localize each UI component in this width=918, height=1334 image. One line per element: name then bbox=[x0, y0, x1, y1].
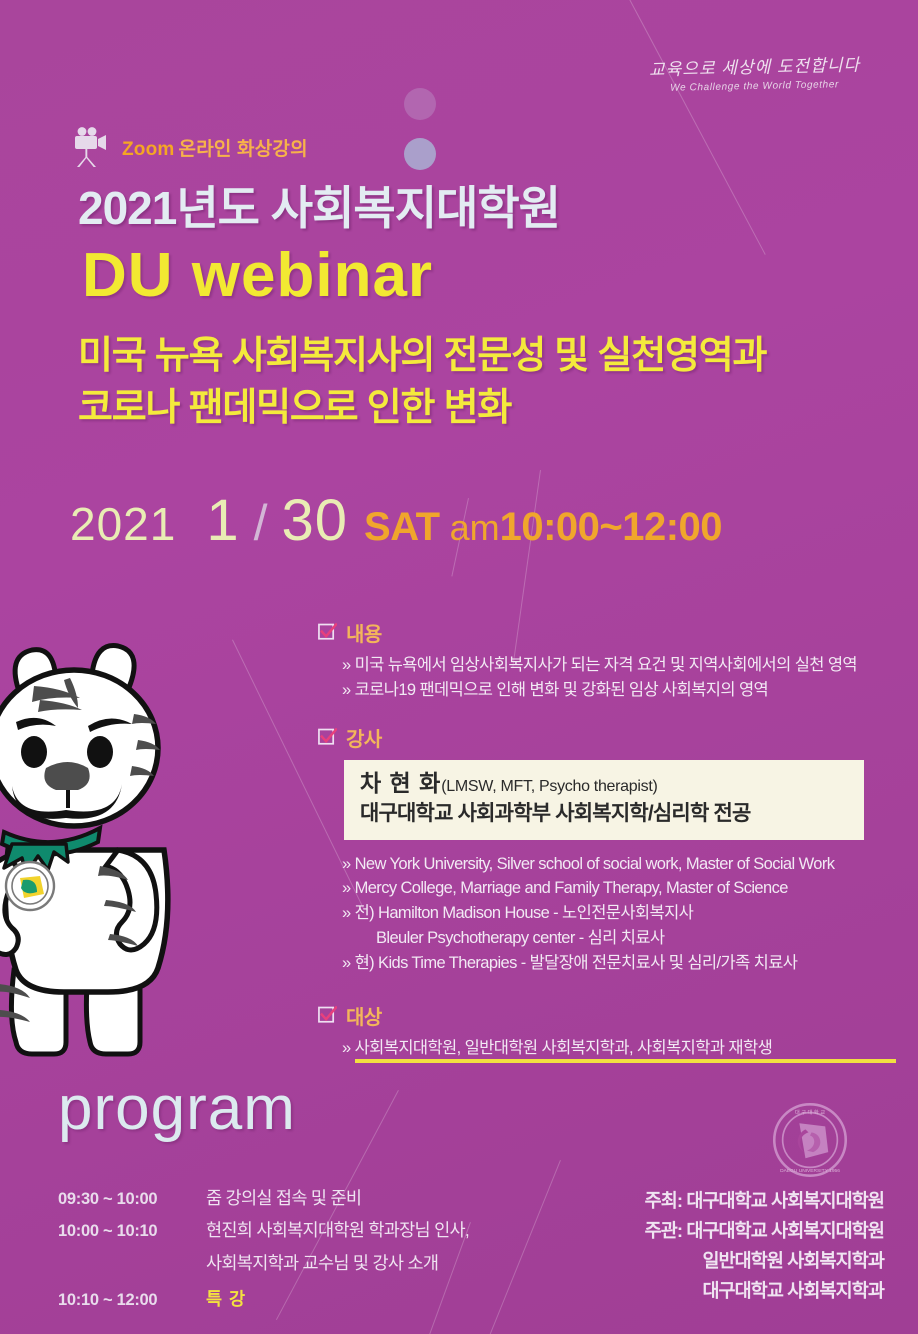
schedule-time: 09:30 ~ 10:00 bbox=[58, 1190, 206, 1209]
schedule-description: 현진희 사회복지대학원 학과장님 인사, bbox=[206, 1217, 469, 1243]
decorative-dot-lower bbox=[404, 138, 436, 170]
list-item-text: 코로나19 팬데믹으로 인해 변화 및 강화된 임상 사회복지의 영역 bbox=[355, 678, 894, 703]
movie-camera-icon bbox=[72, 126, 112, 168]
program-heading: program bbox=[58, 1078, 296, 1140]
list-item: »현) Kids Time Therapies - 발달장애 전문치료사 및 심… bbox=[342, 951, 894, 976]
poster-canvas: 교육으로 세상에 도전합니다 We Challenge the World To… bbox=[0, 0, 918, 1334]
instructor-career-list: »New York University, Silver school of s… bbox=[342, 852, 894, 976]
organizer-line: 주관: 대구대학교 사회복지대학원 bbox=[645, 1216, 884, 1246]
decorative-dot-upper bbox=[404, 88, 436, 120]
list-item-text: 전) Hamilton Madison House - 노인전문사회복지사 bbox=[355, 901, 894, 926]
checkbox-checked-icon bbox=[318, 728, 337, 747]
schedule-time: 10:00 ~ 10:10 bbox=[58, 1222, 206, 1241]
list-item-text: 사회복지대학원, 일반대학원 사회복지학과, 사회복지학과 재학생 bbox=[355, 1036, 894, 1061]
list-item: »코로나19 팬데믹으로 인해 변화 및 강화된 임상 사회복지의 영역 bbox=[342, 678, 894, 703]
instructor-credentials: (LMSW, MFT, Psycho therapist) bbox=[441, 778, 657, 795]
bullet-marker: » bbox=[342, 653, 351, 678]
schedule-row-continuation: 사회복지학과 교수님 및 강사 소개 bbox=[206, 1250, 528, 1276]
date-month: 1 bbox=[206, 487, 239, 554]
list-item-text: Bleuler Psychotherapy center - 심리 치료사 bbox=[376, 926, 894, 951]
schedule-time: 10:10 ~ 12:00 bbox=[58, 1291, 206, 1310]
section-content-list: »미국 뉴욕에서 임상사회복지사가 되는 자격 요건 및 지역사회에서의 실천 … bbox=[342, 653, 894, 703]
checkbox-checked-icon bbox=[318, 1006, 337, 1025]
list-item: »미국 뉴욕에서 임상사회복지사가 되는 자격 요건 및 지역사회에서의 실천 … bbox=[342, 653, 894, 678]
white-tiger-mascot bbox=[0, 600, 230, 1070]
headline-year-department: 2021년도 사회복지대학원 bbox=[78, 182, 878, 235]
zoom-online-badge: Zoom온라인 화상강의 bbox=[72, 126, 308, 168]
bullet-marker: » bbox=[342, 901, 351, 926]
time-range: 10:00~12:00 bbox=[500, 505, 722, 550]
program-schedule: 09:30 ~ 10:00 줌 강의실 접속 및 준비 10:00 ~ 10:1… bbox=[58, 1185, 528, 1318]
list-item: »New York University, Silver school of s… bbox=[342, 852, 894, 877]
section-audience: 대상 »사회복지대학원, 일반대학원 사회복지학과, 사회복지학과 재학생 bbox=[318, 1001, 894, 1061]
list-item-text: 현) Kids Time Therapies - 발달장애 전문치료사 및 심리… bbox=[355, 951, 894, 976]
date-day: 30 bbox=[282, 487, 349, 554]
info-sections: 내용 »미국 뉴욕에서 임상사회복지사가 되는 자격 요건 및 지역사회에서의 … bbox=[318, 618, 894, 1081]
list-item: »사회복지대학원, 일반대학원 사회복지학과, 사회복지학과 재학생 bbox=[342, 1036, 894, 1061]
zoom-badge-label: 온라인 화상강의 bbox=[179, 139, 308, 160]
schedule-description-continued: 사회복지학과 교수님 및 강사 소개 bbox=[206, 1250, 438, 1276]
schedule-row: 10:00 ~ 10:10 현진희 사회복지대학원 학과장님 인사, bbox=[58, 1217, 528, 1243]
section-content-title: 내용 bbox=[346, 618, 382, 647]
date-weekday: SAT bbox=[364, 505, 440, 550]
section-content: 내용 »미국 뉴욕에서 임상사회복지사가 되는 자격 요건 및 지역사회에서의 … bbox=[318, 618, 894, 703]
slogan-english: We Challenge the World Together bbox=[649, 78, 860, 94]
organizer-line: 주최: 대구대학교 사회복지대학원 bbox=[645, 1186, 884, 1216]
list-item-text: New York University, Silver school of so… bbox=[355, 852, 894, 877]
instructor-name: 차 현 화 bbox=[360, 770, 441, 796]
schedule-row: 09:30 ~ 10:00 줌 강의실 접속 및 준비 bbox=[58, 1185, 528, 1211]
zoom-brand-label: Zoom bbox=[122, 139, 175, 160]
instructor-affiliation: 대구대학교 사회과학부 사회복지학/심리학 전공 bbox=[360, 800, 850, 828]
date-separator: / bbox=[254, 494, 268, 552]
organizer-info: 주최: 대구대학교 사회복지대학원 주관: 대구대학교 사회복지대학원 일반대학… bbox=[645, 1186, 884, 1306]
bullet-marker: » bbox=[342, 951, 351, 976]
section-audience-list: »사회복지대학원, 일반대학원 사회복지학과, 사회복지학과 재학생 bbox=[342, 1036, 894, 1061]
list-item: »Mercy College, Marriage and Family Ther… bbox=[342, 876, 894, 901]
slogan-korean: 교육으로 세상에 도전합니다 bbox=[649, 55, 861, 80]
schedule-description: 특 강 bbox=[206, 1286, 246, 1312]
section-instructor-title: 강사 bbox=[346, 723, 382, 752]
list-item: »전) Hamilton Madison House - 노인전문사회복지사 bbox=[342, 901, 894, 926]
date-year: 2021 bbox=[70, 497, 176, 551]
svg-text:DAEGU UNIVERSITY 1956: DAEGU UNIVERSITY 1956 bbox=[780, 1168, 840, 1174]
schedule-row: 10:10 ~ 12:00 특 강 bbox=[58, 1286, 528, 1312]
checkbox-checked-icon bbox=[318, 623, 337, 642]
list-item-text: Mercy College, Marriage and Family Thera… bbox=[355, 876, 894, 901]
bullet-marker: » bbox=[342, 852, 351, 877]
daegu-university-seal: 대 구 대 학 교 DAEGU UNIVERSITY 1956 bbox=[772, 1102, 848, 1178]
svg-text:대 구 대 학 교: 대 구 대 학 교 bbox=[795, 1108, 825, 1116]
list-item: Bleuler Psychotherapy center - 심리 치료사 bbox=[376, 926, 894, 951]
time-meridiem: am bbox=[450, 507, 500, 549]
bullet-marker: » bbox=[342, 876, 351, 901]
organizer-line: 일반대학원 사회복지학과 bbox=[645, 1246, 884, 1276]
organizer-line: 대구대학교 사회복지학과 bbox=[645, 1276, 884, 1306]
bullet-marker: » bbox=[342, 1036, 351, 1061]
headline-subtitle-line-1: 미국 뉴욕 사회복지사의 전문성 및 실천영역과 bbox=[78, 330, 878, 382]
bullet-marker: » bbox=[342, 678, 351, 703]
list-item-text: 미국 뉴욕에서 임상사회복지사가 되는 자격 요건 및 지역사회에서의 실천 영… bbox=[355, 653, 894, 678]
schedule-description: 줌 강의실 접속 및 준비 bbox=[206, 1185, 361, 1211]
instructor-highlight-box: 차 현 화(LMSW, MFT, Psycho therapist) 대구대학교… bbox=[344, 760, 864, 840]
headline-subtitle-line-2: 코로나 팬데믹으로 인한 변화 bbox=[78, 382, 878, 434]
university-slogan: 교육으로 세상에 도전합니다 We Challenge the World To… bbox=[649, 58, 860, 92]
headline-brand: DU webinar bbox=[82, 239, 878, 312]
section-audience-title: 대상 bbox=[346, 1001, 382, 1030]
headline-block: 2021년도 사회복지대학원 DU webinar 미국 뉴욕 사회복지사의 전… bbox=[78, 182, 878, 435]
event-date-row: 2021 1 / 30 SAT am 10:00~12:00 bbox=[70, 487, 722, 554]
section-instructor: 강사 차 현 화(LMSW, MFT, Psycho therapist) 대구… bbox=[318, 723, 894, 976]
zoom-badge-text: Zoom온라인 화상강의 bbox=[122, 134, 308, 161]
